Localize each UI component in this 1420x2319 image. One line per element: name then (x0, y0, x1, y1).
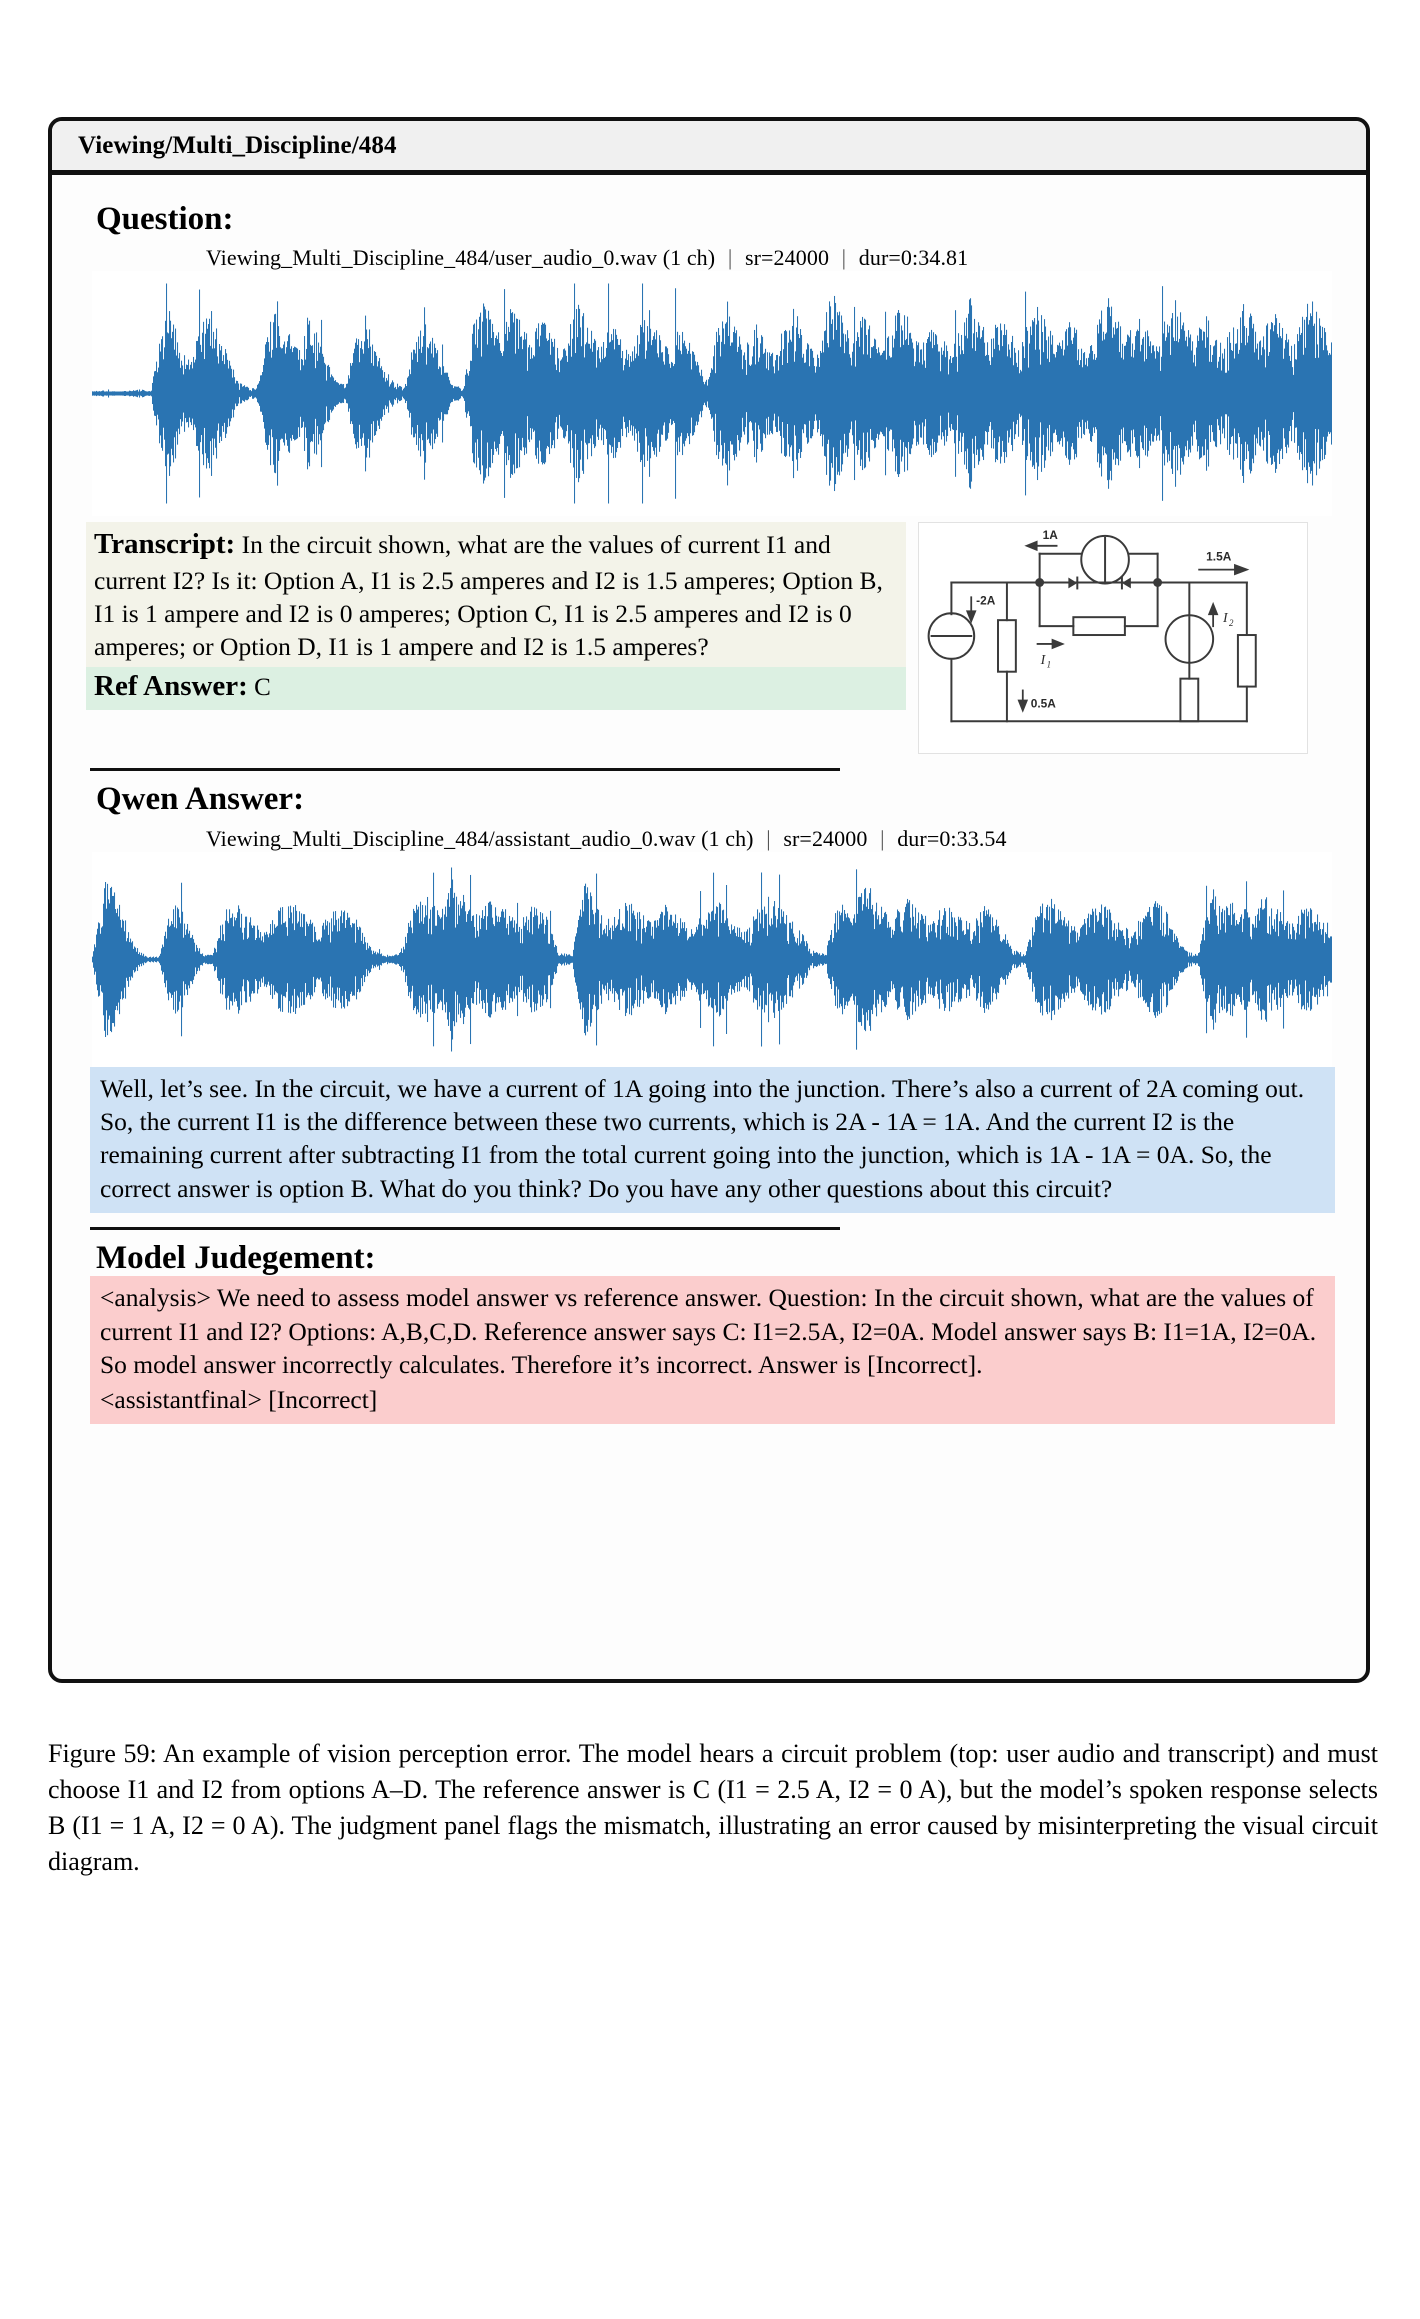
user-audio-filename: Viewing_Multi_Discipline_484/user_audio_… (206, 245, 657, 270)
figure-caption: Figure 59: An example of vision percepti… (48, 1736, 1378, 1880)
qwen-answer-text: Well, let’s see. In the circuit, we have… (100, 1074, 1304, 1203)
transcript-label: Transcript: (94, 528, 235, 560)
ref-answer-box: Ref Answer: C (86, 667, 906, 710)
meta-separator: | (873, 826, 892, 851)
example-card: Viewing/Multi_Discipline/484 Question: V… (48, 117, 1370, 1683)
user-audio-duration: dur=0:34.81 (859, 245, 968, 270)
circuit-label-1a: 1A (1043, 528, 1059, 542)
circuit-label-minus2a: -2A (976, 594, 996, 608)
judgement-analysis-text: <analysis> We need to assess model answe… (100, 1281, 1325, 1381)
assistant-audio-waveform (92, 852, 1332, 1067)
user-audio-samplerate: sr=24000 (745, 245, 829, 270)
meta-separator: | (835, 245, 854, 270)
section-divider (90, 768, 840, 771)
svg-text:1: 1 (1047, 660, 1051, 670)
circuit-label-0-5a: 0.5A (1031, 697, 1057, 711)
transcript-box: Transcript: In the circuit shown, what a… (86, 522, 906, 667)
section-divider (90, 1227, 840, 1230)
circuit-label-1-5a: 1.5A (1206, 550, 1232, 564)
user-audio-waveform (92, 271, 1332, 516)
user-audio-channels: (1 ch) (663, 245, 716, 270)
assistant-audio-filename: Viewing_Multi_Discipline_484/assistant_a… (206, 826, 695, 851)
circuit-label-i1: I (1040, 653, 1047, 668)
page-title: Viewing/Multi_Discipline/484 (78, 132, 397, 160)
card-body: Question: Viewing_Multi_Discipline_484/u… (52, 175, 1366, 1434)
figure-caption-text: Figure 59: An example of vision percepti… (48, 1739, 1378, 1876)
assistant-audio-channels: (1 ch) (701, 826, 754, 851)
user-audio-meta: Viewing_Multi_Discipline_484/user_audio_… (86, 245, 1336, 271)
model-judgement-box: <analysis> We need to assess model answe… (90, 1276, 1335, 1424)
assistant-audio-meta: Viewing_Multi_Discipline_484/assistant_a… (86, 826, 1336, 852)
meta-separator: | (721, 245, 740, 270)
circuit-label-i2: I (1222, 611, 1229, 626)
model-judgement-heading: Model Judegement: (96, 1240, 1336, 1276)
judgement-final-text: <assistantfinal> [Incorrect] (100, 1383, 1325, 1416)
qwen-answer-heading: Qwen Answer: (96, 781, 1336, 817)
ref-answer-value: C (254, 674, 271, 701)
assistant-audio-samplerate: sr=24000 (783, 826, 867, 851)
meta-separator: | (759, 826, 778, 851)
transcript-column: Transcript: In the circuit shown, what a… (86, 522, 906, 710)
svg-text:2: 2 (1229, 618, 1234, 628)
assistant-audio-duration: dur=0:33.54 (897, 826, 1006, 851)
qwen-answer-text-box: Well, let’s see. In the circuit, we have… (90, 1067, 1335, 1214)
card-header: Viewing/Multi_Discipline/484 (52, 121, 1366, 175)
circuit-diagram-image: 1A -2A 0.5A 1.5A I 1 I 2 (918, 522, 1308, 754)
question-heading: Question: (96, 201, 1336, 237)
transcript-row: Transcript: In the circuit shown, what a… (86, 522, 1336, 754)
ref-answer-label: Ref Answer: (94, 670, 248, 702)
